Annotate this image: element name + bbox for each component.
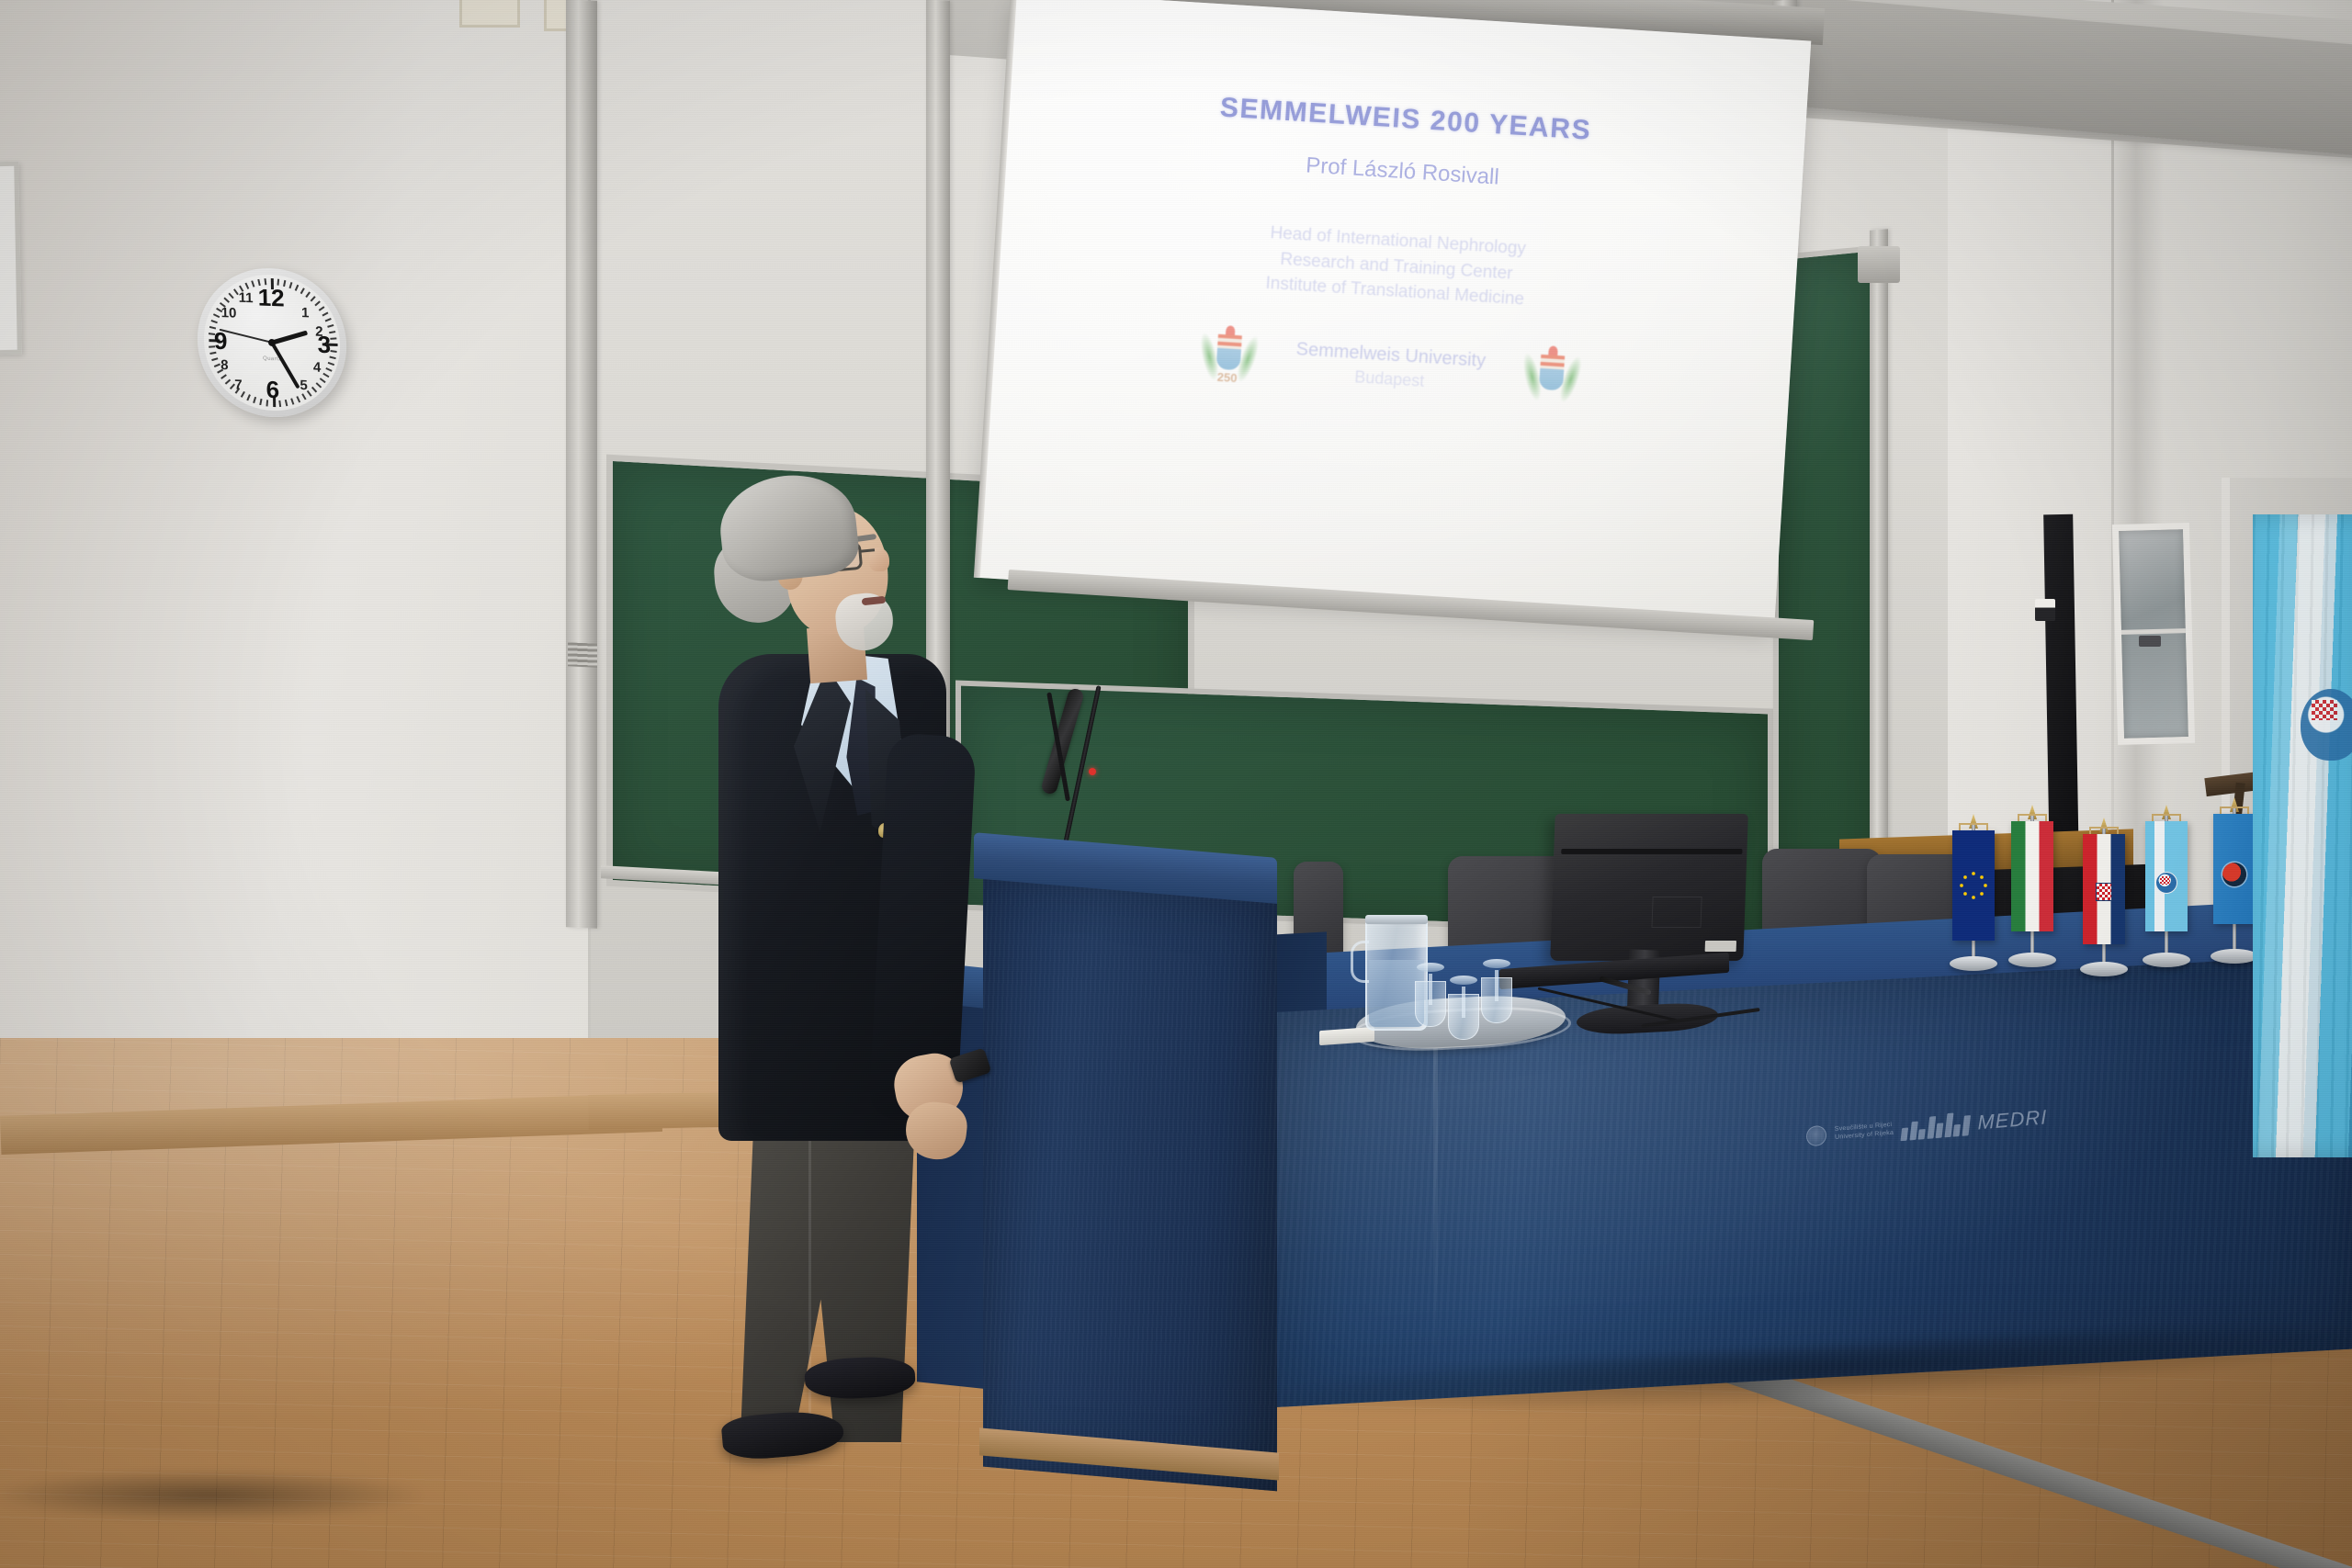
- clock-tick: [247, 394, 251, 400]
- clock-tick: [322, 311, 328, 316]
- microphone-led-indicator: [1089, 768, 1096, 775]
- clock-numeral-9: 9: [214, 329, 228, 354]
- glass-stem: [1429, 974, 1432, 1005]
- clock-numeral-4: 4: [313, 360, 322, 374]
- logo-bar: [1917, 1129, 1925, 1140]
- clock-tick: [302, 393, 307, 400]
- desk-flag-croatia: [2078, 829, 2130, 968]
- pitcher-handle: [1351, 941, 1369, 983]
- clock-tick: [211, 358, 218, 361]
- flag-folds: [2253, 514, 2352, 1157]
- faculty-emblem-icon: [2222, 863, 2246, 886]
- logo-bar-mark-icon: [1900, 1111, 1970, 1141]
- lecture-hall-photo: 12 3 6 9 1 2 4 5 7 8 10 11 Quartz: [0, 0, 2352, 1568]
- clock-numeral-8: 8: [220, 358, 229, 372]
- presenter-shoe-left: [720, 1407, 845, 1461]
- wall-window: [2112, 523, 2195, 745]
- slide-university-block: Semmelweis University Budapest: [1294, 336, 1487, 397]
- clock-tick: [328, 362, 334, 366]
- clock-tick: [320, 378, 326, 383]
- lectern-fabric-texture: [983, 870, 1277, 1492]
- lectern-body: [983, 870, 1277, 1492]
- lectern-floor-shadow: [0, 1470, 423, 1521]
- flag-base: [2211, 949, 2258, 964]
- glass-foot: [1450, 976, 1477, 985]
- shield-stripes: [1217, 333, 1242, 349]
- clock-tick: [331, 350, 337, 353]
- shield-icon: [1216, 333, 1241, 370]
- drinking-glass: [1481, 952, 1512, 1023]
- speaking-lectern: [974, 845, 1277, 1488]
- clock-tick: [300, 288, 305, 294]
- clock-tick: [319, 306, 325, 310]
- monitor-vent: [1561, 849, 1743, 854]
- clock-numeral-11: 11: [238, 291, 253, 306]
- flag-base: [2143, 953, 2190, 967]
- eu-stars-icon: [1960, 872, 1987, 899]
- clock-tick: [220, 375, 227, 379]
- clock-numeral-6: 6: [266, 378, 279, 402]
- clock-tick: [305, 291, 310, 298]
- window-mullion: [2121, 629, 2186, 636]
- shield-stripes: [1541, 355, 1566, 370]
- clock-hour-hand: [271, 331, 307, 345]
- glass-stem: [1495, 970, 1498, 1001]
- slide-logo-row: 250 Semmelweis University Budapest: [1200, 323, 1580, 410]
- glass-stem: [1462, 987, 1465, 1018]
- flag-cloth-rijeka: [2145, 821, 2188, 931]
- semmelweis-crest-icon: [1523, 344, 1580, 411]
- logo-bar: [1952, 1124, 1960, 1137]
- presenter: [698, 459, 974, 1525]
- slide-title: SEMMELWEIS 200 YEARS: [1219, 92, 1592, 146]
- clock-tick: [316, 382, 322, 388]
- clock-tick: [325, 318, 332, 321]
- logo-bar: [1909, 1122, 1917, 1141]
- computer-monitor: [1550, 814, 1748, 961]
- presentation-slide: SEMMELWEIS 200 YEARS Prof László Rosival…: [977, 0, 1811, 627]
- monitor-vesa-mount: [1652, 897, 1702, 928]
- clock-tick: [285, 400, 288, 406]
- clock-numeral-7: 7: [234, 378, 243, 391]
- logo-bar: [1935, 1122, 1943, 1138]
- clock-numeral-10: 10: [221, 306, 237, 321]
- clock-tick: [214, 364, 220, 367]
- wall-notice: [459, 0, 520, 28]
- clock-tick: [311, 387, 317, 392]
- clock-tick: [260, 399, 263, 405]
- board-rail-clip: [568, 642, 597, 667]
- left-wall: [0, 0, 588, 1213]
- clock-second-hand: [220, 329, 272, 344]
- logo-bar: [1900, 1128, 1908, 1142]
- projection-screen: SEMMELWEIS 200 YEARS Prof László Rosival…: [977, 0, 1811, 627]
- desk-flag-rijeka: [2141, 816, 2192, 959]
- flag-cloth-european-union: [1952, 830, 1995, 941]
- crest-checkerboard: [2312, 700, 2337, 720]
- flag-base: [1950, 956, 1997, 971]
- drinking-glass: [1448, 968, 1479, 1040]
- clock-tick: [223, 298, 229, 303]
- flag-cloth-hungary: [2011, 821, 2053, 931]
- clock-tick: [244, 283, 248, 289]
- flag-base: [2008, 953, 2056, 967]
- croatia-checkerboard-icon: [2096, 883, 2112, 901]
- desk-flag-european-union: [1948, 825, 1999, 963]
- emblem-checkerboard: [2160, 876, 2170, 885]
- clock-tick: [323, 373, 330, 378]
- clock-tick: [225, 379, 231, 385]
- light-switch[interactable]: [2035, 599, 2055, 621]
- semmelweis-crest-250-icon: 250: [1200, 323, 1257, 389]
- university-wordmark: Sveučilište u Rijeci University of Rijek…: [1835, 1122, 1894, 1143]
- glass-foot: [1417, 963, 1444, 972]
- flag-base: [2080, 962, 2128, 976]
- logo-bar: [1927, 1116, 1936, 1139]
- board-rail-vertical: [566, 0, 597, 929]
- clock-tick: [288, 282, 292, 288]
- shield-icon: [1539, 355, 1565, 391]
- drinking-glass: [1415, 955, 1446, 1027]
- slide-author: Prof László Rosivall: [1305, 152, 1499, 190]
- rijeka-emblem-icon: [2155, 872, 2177, 894]
- presenter-hair: [716, 469, 862, 586]
- crest-anniversary-label: 250: [1216, 369, 1238, 384]
- university-seal-icon: [1806, 1125, 1827, 1147]
- clock-tick: [211, 320, 218, 323]
- flag-cloth-faculty: [2213, 814, 2256, 924]
- clock-tick: [228, 293, 233, 299]
- flag-cloth-croatia: [2083, 834, 2125, 944]
- desk-flag-hungary: [2007, 816, 2058, 959]
- clock-tick: [213, 314, 220, 319]
- slide-affiliation: Head of International Nephrology Researc…: [1265, 220, 1529, 312]
- clock-tick: [295, 285, 299, 291]
- clock-numeral-5: 5: [300, 378, 308, 392]
- clock-tick: [327, 324, 334, 327]
- clock-tick: [330, 337, 336, 339]
- board-rail-bracket: [1858, 246, 1900, 283]
- clock-tick: [326, 367, 333, 372]
- pitcher-lid: [1365, 915, 1428, 924]
- logo-bar: [1944, 1113, 1953, 1138]
- clock-tick: [297, 396, 300, 402]
- clock-numeral-1: 1: [301, 306, 310, 320]
- glass-foot: [1483, 959, 1510, 968]
- clock-tick: [291, 398, 295, 404]
- standing-flag-rijeka: [2253, 514, 2352, 1157]
- monitor-spec-label: [1705, 941, 1736, 952]
- clock-tick: [254, 397, 257, 403]
- wall-sensor: [2139, 636, 2161, 647]
- framed-picture: [0, 162, 22, 355]
- clock-tick: [311, 296, 316, 301]
- cloth-fold: [1433, 1001, 1438, 1369]
- flag-crest-icon: [2301, 689, 2352, 761]
- wall-clock: 12 3 6 9 1 2 4 5 7 8 10 11 Quartz: [197, 265, 348, 420]
- clock-tick: [251, 280, 254, 287]
- clock-numeral-2: 2: [315, 325, 323, 339]
- clock-tick: [314, 300, 320, 306]
- clock-numeral-12: 12: [257, 286, 284, 310]
- logo-bar: [1962, 1115, 1971, 1136]
- clock-center-pin: [268, 339, 276, 346]
